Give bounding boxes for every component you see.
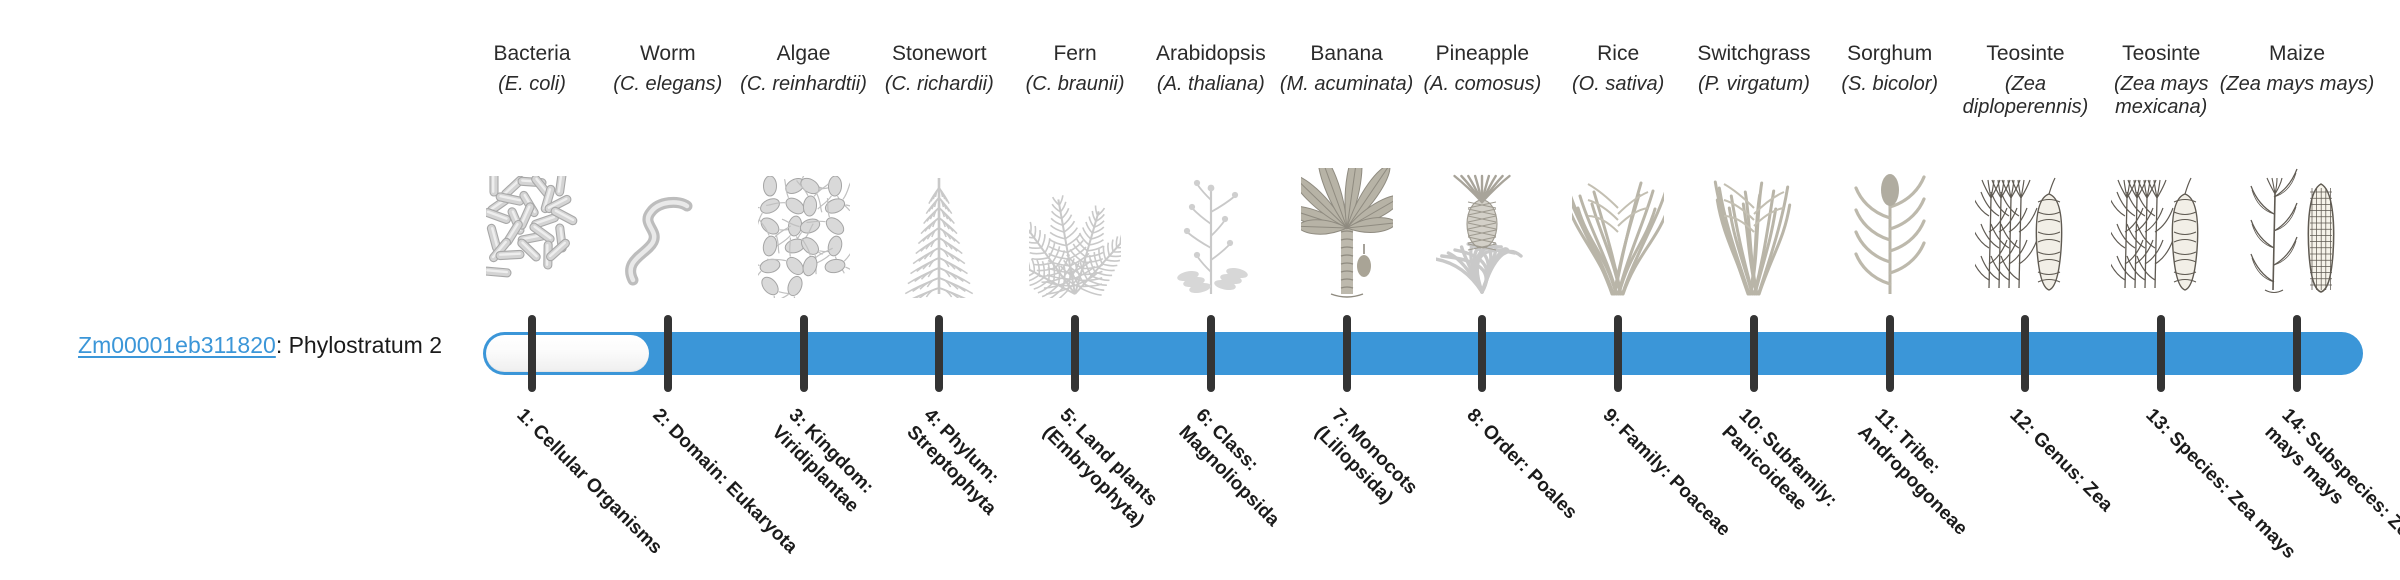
gene-phylostratum-label: Zm00001eb311820: Phylostratum 2	[0, 334, 460, 357]
gene-label-separator: :	[276, 332, 289, 358]
gene-id-link[interactable]: Zm00001eb311820	[78, 332, 276, 358]
phylostratum-tick[interactable]	[2021, 315, 2029, 392]
phylostratum-timeline-figure: Zm00001eb311820: Phylostratum 2 Bacteria…	[0, 0, 2400, 580]
phylostratum-tick[interactable]	[1478, 315, 1486, 392]
phylostratum-tick[interactable]	[1750, 315, 1758, 392]
phylostratum-tick[interactable]	[1614, 315, 1622, 392]
species-column: Maize(Zea mays mays)14: Subspecies: Zea …	[2217, 0, 2377, 580]
phylostratum-tick[interactable]	[1886, 315, 1894, 392]
phylostratum-tick[interactable]	[2157, 315, 2165, 392]
phylostratum-track: Bacteria(E. coli)1: Cellular OrganismsWo…	[483, 0, 2363, 580]
phylostratum-tick[interactable]	[1207, 315, 1215, 392]
phylostratum-tick[interactable]	[2293, 315, 2301, 392]
phylostratum-tick[interactable]	[800, 315, 808, 392]
species-latin-name: (Zea mays mays)	[2217, 73, 2377, 96]
phylostratum-tick[interactable]	[528, 315, 536, 392]
species-common-name: Maize	[2217, 42, 2377, 66]
phylostratum-tick[interactable]	[1343, 315, 1351, 392]
phylostratum-tick[interactable]	[664, 315, 672, 392]
phylostratum-tick[interactable]	[1071, 315, 1079, 392]
phylostratum-tick[interactable]	[935, 315, 943, 392]
gene-phylostratum-value: Phylostratum 2	[289, 332, 442, 358]
phylostratum-label: 14: Subspecies: Zea mays mays	[2259, 404, 2400, 580]
maize-plant-cob-icon	[2217, 168, 2377, 298]
